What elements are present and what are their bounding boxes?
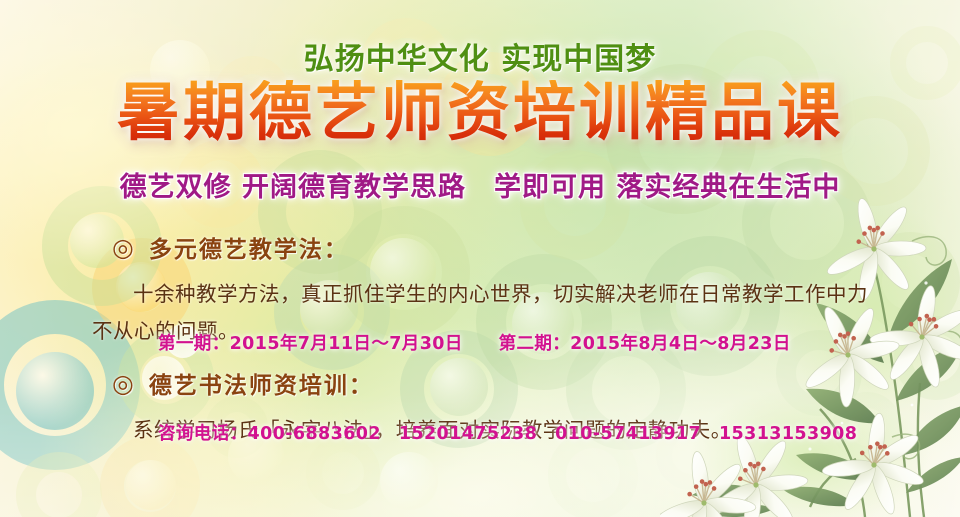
footer-phones: 咨询电话：400-6883602 15201475238 010-5741391… (158, 419, 960, 449)
promo-poster: 弘扬中华文化 实现中国梦 暑期德艺师资培训精品课 暑期德艺师资培训精品课 德艺双… (0, 0, 960, 517)
page-title: 暑期德艺师资培训精品课 (0, 80, 960, 146)
page-subtitle: 德艺双修 开阔德育教学思路 学即可用 落实经典在生活中 (0, 165, 960, 204)
section-heading-1-label: 多元德艺教学法： (149, 230, 349, 264)
footer-info: 第一期：2015年7月11日～7月30日 第二期：2015年8月4日～8月23日… (0, 269, 960, 509)
circle-bullet-icon: ◎ (112, 235, 136, 260)
page-tagline: 弘扬中华文化 实现中国梦 (0, 34, 960, 78)
section-heading-1: ◎ 多元德艺教学法： (0, 228, 960, 266)
footer-dates: 第一期：2015年7月11日～7月30日 第二期：2015年8月4日～8月23日 (158, 329, 960, 359)
